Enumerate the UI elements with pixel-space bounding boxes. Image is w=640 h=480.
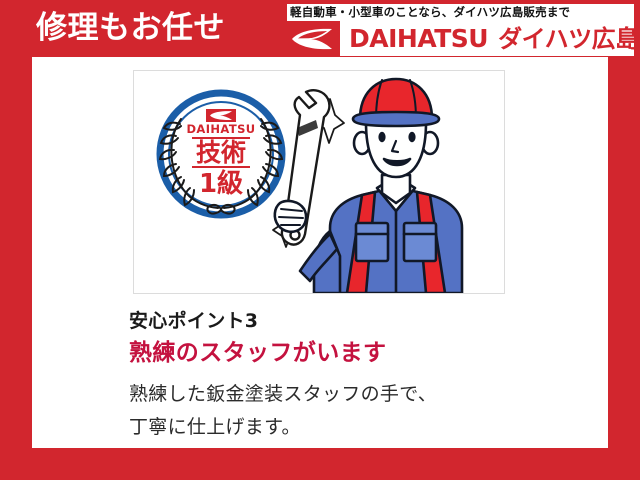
page-title: 修理もお任せ (36, 9, 225, 47)
badge-line1: 技術 (196, 138, 246, 167)
point-body-line-1: 熟練した鈑金塗装スタッフの手で、 (129, 378, 549, 411)
brand-name-latin: DAIHATSU (349, 26, 488, 51)
content-text-block: 安心ポイント3 熟練のスタッフがいます 熟練した鈑金塗装スタッフの手で、 丁寧に… (129, 307, 549, 444)
brand-tagline: 軽自動車・小型車のことなら、ダイハツ広島販売まで (287, 4, 634, 21)
promo-banner: 修理もお任せ 軽自動車・小型車のことなら、ダイハツ広島販売まで DAIHATSU… (0, 0, 640, 480)
daihatsu-d-swoosh-icon (206, 109, 236, 122)
brand-bar: DAIHATSU ダイハツ広島販売 (283, 21, 634, 56)
brand-name-japanese: ダイハツ広島販売 (498, 27, 640, 51)
illustration-frame: DAIHATSU 技術 1級 (133, 70, 505, 294)
content-panel: DAIHATSU 技術 1級 (32, 57, 608, 448)
point-body-line-2: 丁寧に仕上げます。 (129, 411, 549, 444)
daihatsu-technician-grade-badge: DAIHATSU 技術 1級 (160, 93, 282, 215)
banner-header: 修理もお任せ 軽自動車・小型車のことなら、ダイハツ広島販売まで DAIHATSU… (0, 0, 640, 58)
daihatsu-d-swoosh-icon (283, 21, 340, 56)
point-headline: 熟練のスタッフがいます (129, 337, 549, 369)
illustration: DAIHATSU 技術 1級 (134, 71, 504, 293)
brand-block: 軽自動車・小型車のことなら、ダイハツ広島販売まで DAIHATSU ダイハツ広島… (283, 4, 634, 56)
badge-line2: 1級 (199, 168, 243, 199)
point-body: 熟練した鈑金塗装スタッフの手で、 丁寧に仕上げます。 (129, 378, 549, 444)
badge-brand-text: DAIHATSU (186, 122, 255, 136)
point-label: 安心ポイント3 (129, 307, 549, 335)
